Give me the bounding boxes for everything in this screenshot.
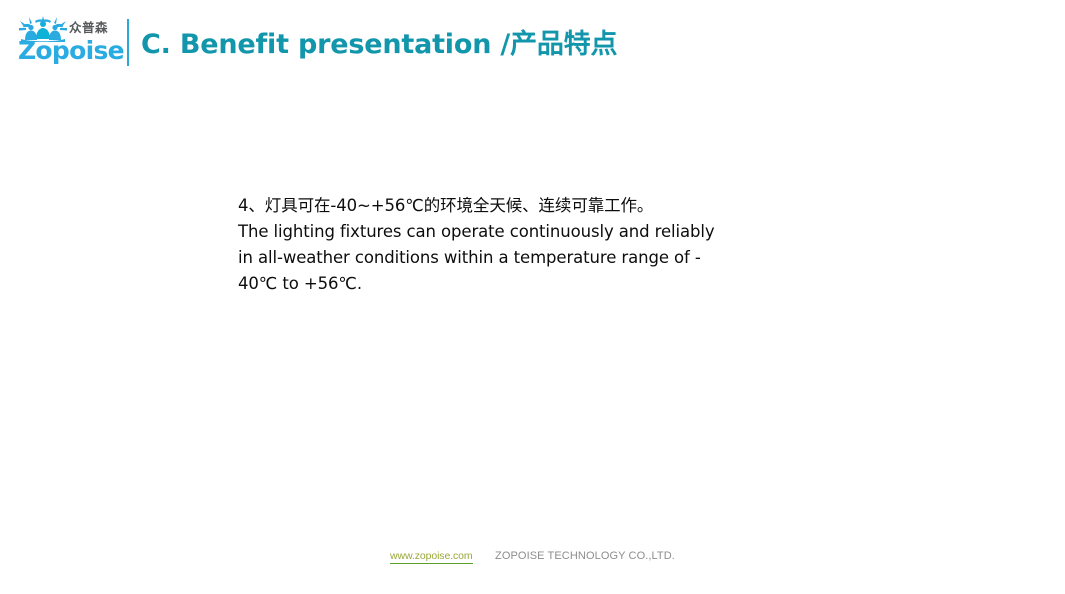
logo-wordmark: Zopoise xyxy=(18,37,124,65)
paragraph-line: 4、灯具可在-40~+56℃的环境全天候、连续可靠工作。 xyxy=(238,193,753,219)
slide-content: 4、灯具可在-40~+56℃的环境全天候、连续可靠工作。 The lightin… xyxy=(0,86,1065,546)
logo-chinese-name: 众普森 xyxy=(69,21,108,35)
footer-website-link[interactable]: www.zopoise.com xyxy=(390,550,473,564)
slide-footer: www.zopoise.com ZOPOISE TECHNOLOGY CO.,L… xyxy=(0,546,1065,594)
paragraph-line: in all-weather conditions within a tempe… xyxy=(238,245,753,271)
benefit-paragraph: 4、灯具可在-40~+56℃的环境全天候、连续可靠工作。 The lightin… xyxy=(238,193,753,297)
footer-company-name: ZOPOISE TECHNOLOGY CO.,LTD. xyxy=(495,550,675,562)
paragraph-line: The lighting fixtures can operate contin… xyxy=(238,219,753,245)
brand-logo[interactable]: 众普森 Zopoise xyxy=(18,16,120,64)
footer-content: www.zopoise.com ZOPOISE TECHNOLOGY CO.,L… xyxy=(0,546,1065,564)
slide-header: 众普森 Zopoise C. Benefit presentation /产品特… xyxy=(0,0,1065,86)
slide-canvas: 众普森 Zopoise C. Benefit presentation /产品特… xyxy=(0,0,1065,594)
page-title: C. Benefit presentation /产品特点 xyxy=(141,27,617,63)
paragraph-line: 40℃ to +56℃. xyxy=(238,271,753,297)
header-divider xyxy=(127,19,129,66)
